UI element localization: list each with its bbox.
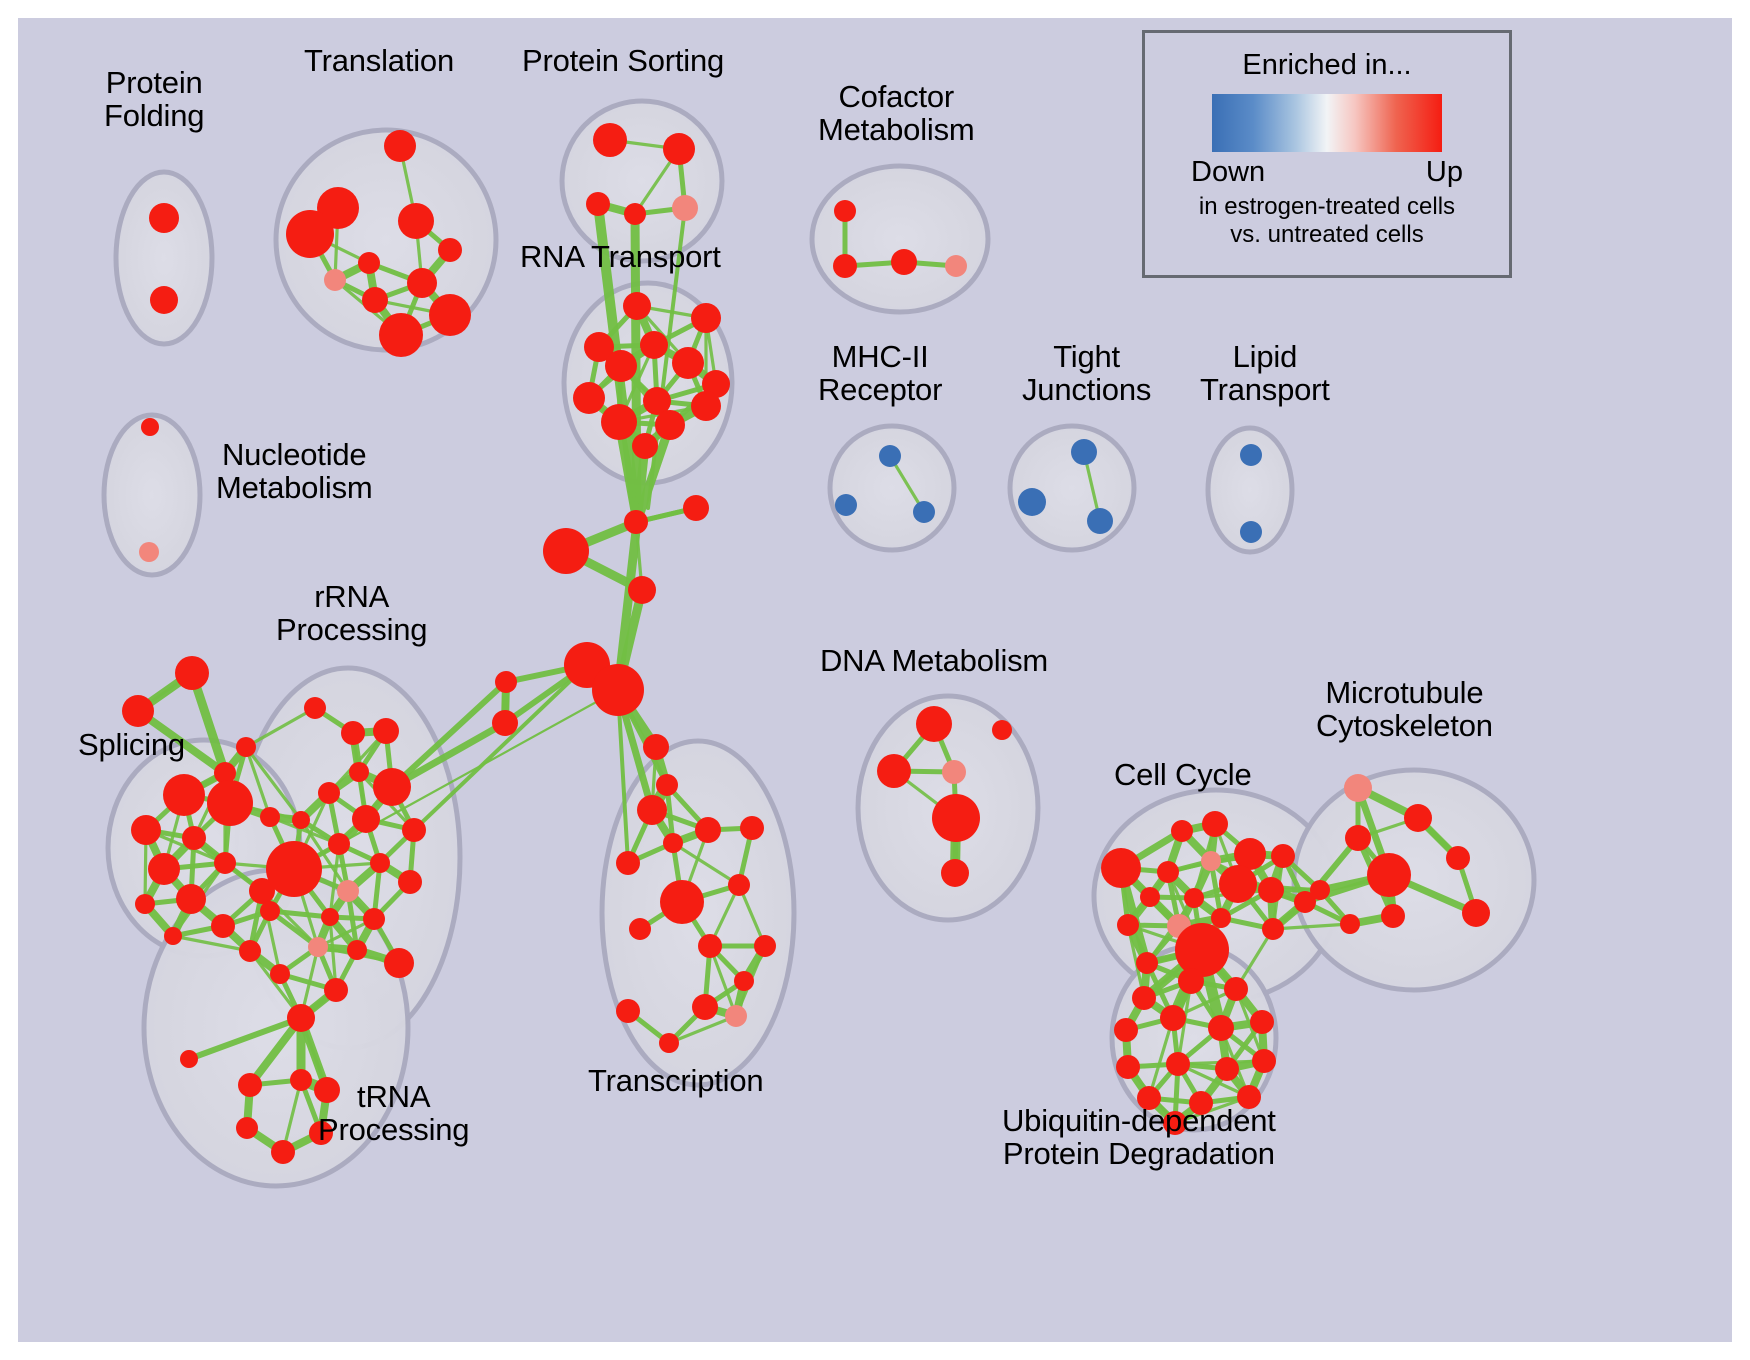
network-node[interactable] (916, 706, 952, 742)
network-node[interactable] (592, 664, 644, 716)
network-node[interactable] (659, 1033, 679, 1053)
legend-color-gradient (1212, 94, 1442, 152)
network-node[interactable] (942, 760, 966, 784)
legend-subtitle: in estrogen-treated cells vs. untreated … (1145, 193, 1509, 250)
network-node[interactable] (632, 433, 658, 459)
network-node[interactable] (643, 734, 669, 760)
network-node[interactable] (373, 718, 399, 744)
network-node[interactable] (1262, 918, 1284, 940)
network-node[interactable] (379, 313, 423, 357)
network-node[interactable] (616, 999, 640, 1023)
cluster-label-line: RNA Transport (520, 240, 721, 273)
cluster-label-line: Ubiquitin-dependent (1002, 1104, 1276, 1137)
network-node[interactable] (352, 805, 380, 833)
network-node[interactable] (1114, 1018, 1138, 1042)
network-node[interactable] (945, 255, 967, 277)
network-node[interactable] (691, 391, 721, 421)
network-node[interactable] (1310, 880, 1330, 900)
cluster-label-rna-transport: RNA Transport (520, 240, 721, 273)
network-node[interactable] (1132, 986, 1156, 1010)
legend-endpoint-labels: Down Up (1191, 156, 1463, 189)
network-node[interactable] (363, 908, 385, 930)
cluster-label-lipid-transport: LipidTransport (1200, 340, 1330, 407)
network-node[interactable] (695, 817, 721, 843)
network-node[interactable] (655, 410, 685, 440)
network-node[interactable] (175, 656, 209, 690)
network-node[interactable] (182, 826, 206, 850)
cluster-label-line: rRNA (276, 580, 427, 613)
network-node[interactable] (691, 303, 721, 333)
legend-title: Enriched in... (1145, 49, 1509, 82)
network-node[interactable] (663, 833, 683, 853)
cluster-label-line: Folding (104, 99, 204, 132)
legend-up-label: Up (1426, 156, 1463, 189)
network-node[interactable] (270, 964, 290, 984)
network-node[interactable] (384, 948, 414, 978)
network-node[interactable] (891, 249, 917, 275)
network-node[interactable] (349, 762, 369, 782)
cluster-label-line: Microtubule (1316, 676, 1493, 709)
cluster-label-line: Metabolism (818, 113, 975, 146)
network-node[interactable] (211, 914, 235, 938)
network-node[interactable] (429, 294, 471, 336)
network-node[interactable] (1340, 914, 1360, 934)
network-node[interactable] (683, 495, 709, 521)
network-node[interactable] (260, 807, 280, 827)
cluster-label-line: Metabolism (216, 471, 373, 504)
cluster-label-line: Receptor (818, 373, 942, 406)
network-node[interactable] (1175, 923, 1229, 977)
network-node[interactable] (150, 286, 178, 314)
cluster-label-line: DNA Metabolism (820, 644, 1048, 677)
network-node[interactable] (1117, 914, 1139, 936)
cluster-ellipse-cofactor-metabolism (812, 166, 988, 312)
network-node[interactable] (1367, 853, 1411, 897)
cluster-label-rrna-processing: rRNAProcessing (276, 580, 427, 647)
network-node[interactable] (148, 853, 180, 885)
cluster-label-protein-folding: ProteinFolding (104, 66, 204, 133)
network-node[interactable] (734, 971, 754, 991)
network-node[interactable] (573, 382, 605, 414)
network-node[interactable] (877, 754, 911, 788)
cluster-label-line: Junctions (1022, 373, 1151, 406)
network-node[interactable] (672, 347, 704, 379)
network-node[interactable] (238, 1073, 262, 1097)
network-node[interactable] (616, 851, 640, 875)
cluster-ellipse-tight-junctions (1010, 426, 1134, 550)
cluster-label-line: Cell Cycle (1114, 758, 1252, 791)
network-node[interactable] (543, 528, 589, 574)
network-node[interactable] (122, 695, 154, 727)
network-node[interactable] (214, 852, 236, 874)
legend-subtitle-line1: in estrogen-treated cells (1145, 193, 1509, 221)
network-node[interactable] (992, 720, 1012, 740)
network-node[interactable] (1071, 439, 1097, 465)
network-node[interactable] (932, 794, 980, 842)
network-node[interactable] (1202, 811, 1228, 837)
network-node[interactable] (1250, 1010, 1274, 1034)
legend-down-label: Down (1191, 156, 1265, 189)
cluster-label-line: Lipid (1200, 340, 1330, 373)
network-node[interactable] (402, 818, 426, 842)
network-node[interactable] (398, 203, 434, 239)
network-node[interactable] (304, 697, 326, 719)
network-node[interactable] (290, 1069, 312, 1091)
network-node[interactable] (180, 1050, 198, 1068)
cluster-label-protein-sorting: Protein Sorting (522, 44, 724, 77)
cluster-label-dna-metabolism: DNA Metabolism (820, 644, 1048, 677)
network-node[interactable] (260, 901, 280, 921)
cluster-label-microtubule-cytoskeleton: MicrotubuleCytoskeleton (1316, 676, 1493, 743)
network-node[interactable] (337, 880, 359, 902)
network-node[interactable] (1211, 908, 1231, 928)
network-node[interactable] (384, 130, 416, 162)
network-node[interactable] (438, 238, 462, 262)
cluster-label-tight-junctions: TightJunctions (1022, 340, 1151, 407)
network-node[interactable] (1381, 904, 1405, 928)
figure-root: ProteinFoldingTranslationProtein Sorting… (0, 0, 1750, 1360)
network-node[interactable] (656, 774, 678, 796)
cluster-label-ubiquitin-protein-degradation: Ubiquitin-dependentProtein Degradation (1002, 1104, 1276, 1171)
network-node[interactable] (1178, 968, 1204, 994)
cluster-label-line: Cofactor (818, 80, 975, 113)
network-node[interactable] (362, 287, 388, 313)
network-canvas: ProteinFoldingTranslationProtein Sorting… (18, 18, 1732, 1342)
network-node[interactable] (637, 795, 667, 825)
network-node[interactable] (321, 908, 339, 926)
network-node[interactable] (266, 841, 322, 897)
network-node[interactable] (1140, 887, 1160, 907)
cluster-ellipse-microtubule-cytoskeleton (1294, 770, 1534, 990)
cluster-label-cofactor-metabolism: CofactorMetabolism (818, 80, 975, 147)
network-node[interactable] (324, 978, 348, 1002)
network-node[interactable] (328, 833, 350, 855)
network-node[interactable] (672, 195, 698, 221)
network-node[interactable] (287, 1004, 315, 1032)
network-node[interactable] (236, 737, 256, 757)
network-node[interactable] (207, 780, 253, 826)
network-node[interactable] (1404, 804, 1432, 832)
cluster-label-line: Transcription (588, 1064, 763, 1097)
network-node[interactable] (628, 576, 656, 604)
network-node[interactable] (163, 774, 205, 816)
network-node[interactable] (239, 940, 261, 962)
network-node[interactable] (398, 870, 422, 894)
network-node[interactable] (754, 935, 776, 957)
cluster-label-line: Processing (276, 613, 427, 646)
cluster-label-line: Tight (1022, 340, 1151, 373)
network-node[interactable] (407, 268, 437, 298)
network-node[interactable] (1219, 865, 1257, 903)
network-node[interactable] (1136, 952, 1158, 974)
network-node[interactable] (692, 994, 718, 1020)
network-node[interactable] (1224, 977, 1248, 1001)
network-node[interactable] (833, 254, 857, 278)
network-node[interactable] (1184, 888, 1204, 908)
network-node[interactable] (1344, 774, 1372, 802)
network-node[interactable] (1101, 848, 1141, 888)
network-node[interactable] (1240, 521, 1262, 543)
cluster-label-translation: Translation (304, 44, 454, 77)
network-node[interactable] (728, 874, 750, 896)
network-node[interactable] (740, 816, 764, 840)
network-node[interactable] (1171, 820, 1193, 842)
network-node[interactable] (492, 710, 518, 736)
cluster-label-mhc-ii-receptor: MHC-IIReceptor (818, 340, 942, 407)
network-node[interactable] (601, 404, 637, 440)
cluster-label-line: Nucleotide (216, 438, 373, 471)
network-node[interactable] (1252, 1049, 1276, 1073)
network-node[interactable] (640, 331, 668, 359)
cluster-label-cell-cycle: Cell Cycle (1114, 758, 1252, 791)
network-node[interactable] (624, 203, 646, 225)
network-node[interactable] (176, 884, 206, 914)
network-node[interactable] (629, 918, 651, 940)
network-node[interactable] (1018, 488, 1046, 516)
network-node[interactable] (1271, 844, 1295, 868)
network-node[interactable] (1116, 1055, 1140, 1079)
cluster-ellipse-protein-sorting (562, 101, 722, 261)
cluster-label-nucleotide-metabolism: NucleotideMetabolism (216, 438, 373, 505)
network-node[interactable] (660, 880, 704, 924)
network-node[interactable] (286, 210, 334, 258)
network-node[interactable] (623, 292, 651, 320)
network-node[interactable] (292, 811, 310, 829)
cluster-label-splicing: Splicing (78, 728, 185, 761)
network-node[interactable] (725, 1005, 747, 1027)
network-node[interactable] (131, 815, 161, 845)
network-node[interactable] (141, 418, 159, 436)
network-node[interactable] (164, 927, 182, 945)
cluster-label-trna-processing: tRNAProcessing (318, 1080, 469, 1147)
cluster-label-line: Protein Degradation (1002, 1137, 1276, 1170)
cluster-label-line: Protein Sorting (522, 44, 724, 77)
cluster-label-line: Processing (318, 1113, 469, 1146)
network-node[interactable] (347, 940, 367, 960)
network-node[interactable] (308, 937, 328, 957)
legend-box: Enriched in... Down Up in estrogen-treat… (1142, 30, 1512, 278)
legend-subtitle-line2: vs. untreated cells (1145, 221, 1509, 249)
network-node[interactable] (593, 123, 627, 157)
network-node[interactable] (835, 494, 857, 516)
network-node[interactable] (149, 203, 179, 233)
network-node[interactable] (495, 671, 517, 693)
cluster-ellipse-mhc-ii-receptor (830, 426, 954, 550)
network-node[interactable] (605, 350, 637, 382)
network-node[interactable] (663, 133, 695, 165)
network-node[interactable] (370, 853, 390, 873)
cluster-label-line: tRNA (318, 1080, 469, 1113)
network-node[interactable] (1160, 1005, 1186, 1031)
network-node[interactable] (236, 1117, 258, 1139)
network-node[interactable] (834, 200, 856, 222)
cluster-label-line: Splicing (78, 728, 185, 761)
network-node[interactable] (139, 542, 159, 562)
network-node[interactable] (1446, 846, 1470, 870)
network-node[interactable] (318, 782, 340, 804)
cluster-label-line: Translation (304, 44, 454, 77)
network-node[interactable] (1462, 899, 1490, 927)
network-node[interactable] (1201, 851, 1221, 871)
network-node[interactable] (624, 510, 648, 534)
network-node[interactable] (941, 859, 969, 887)
network-node[interactable] (1240, 444, 1262, 466)
network-node[interactable] (1157, 861, 1179, 883)
network-node[interactable] (1215, 1057, 1239, 1081)
network-node[interactable] (1345, 825, 1371, 851)
cluster-label-line: MHC-II (818, 340, 942, 373)
network-node[interactable] (1258, 877, 1284, 903)
network-node[interactable] (271, 1140, 295, 1164)
network-node[interactable] (341, 721, 365, 745)
network-node[interactable] (1208, 1015, 1234, 1041)
network-node[interactable] (373, 768, 411, 806)
network-node[interactable] (913, 501, 935, 523)
network-node[interactable] (586, 192, 610, 216)
network-node[interactable] (358, 252, 380, 274)
network-node[interactable] (135, 894, 155, 914)
network-node[interactable] (698, 934, 722, 958)
cluster-label-transcription: Transcription (588, 1064, 763, 1097)
network-node[interactable] (1166, 1052, 1190, 1076)
cluster-label-line: Transport (1200, 373, 1330, 406)
network-node[interactable] (324, 269, 346, 291)
cluster-ellipse-protein-folding (116, 172, 212, 344)
cluster-label-line: Cytoskeleton (1316, 709, 1493, 742)
network-node[interactable] (879, 445, 901, 467)
network-node[interactable] (1087, 508, 1113, 534)
cluster-label-line: Protein (104, 66, 204, 99)
